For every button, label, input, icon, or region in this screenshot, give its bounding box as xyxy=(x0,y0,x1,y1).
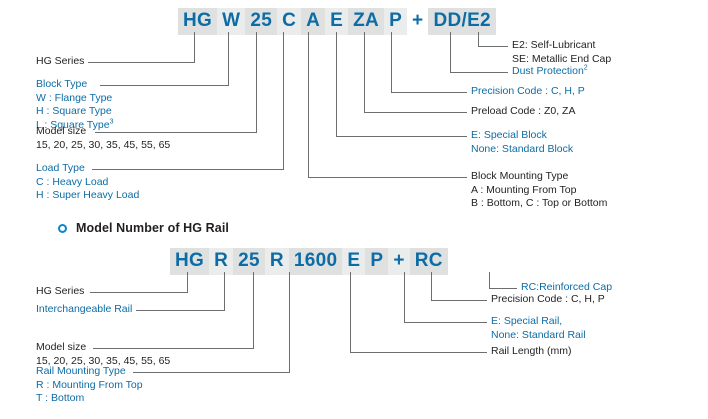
block-code-cell-7: P xyxy=(384,8,407,35)
leader-stub-precision xyxy=(391,32,392,92)
rail-code-cell-4: 1600 xyxy=(289,248,342,275)
rail-stub-length xyxy=(350,272,351,352)
rail-code-cell-7: + xyxy=(388,248,409,275)
footnote-marker-2: 2 xyxy=(584,65,588,72)
elbow-special xyxy=(336,136,467,137)
annotation-block-mounting-type: Block Mounting Type A : Mounting From To… xyxy=(471,170,607,211)
annotation-rail-mounting-type: Rail Mounting Type R : Mounting From Top… xyxy=(36,365,143,406)
rail-code-cell-5: E xyxy=(342,248,365,275)
annotation-model-size-rail: Model size 15, 20, 25, 30, 35, 45, 55, 6… xyxy=(36,341,170,368)
annotation-end-cap-options: E2: Self-Lubricant SE: Metallic End Cap xyxy=(512,39,611,66)
rail-section-header: Model Number of HG Rail xyxy=(58,221,229,235)
annotation-interchangeable-rail: Interchangeable Rail xyxy=(36,303,132,317)
rail-stub-precision xyxy=(431,272,432,300)
rail-elbow-interchange xyxy=(136,310,225,311)
rail-code-cell-6: P xyxy=(365,248,388,275)
block-code-cell-1: W xyxy=(217,8,245,35)
annotation-load-type: Load Type C : Heavy Load H : Super Heavy… xyxy=(36,162,139,203)
block-code-cell-4: A xyxy=(301,8,325,35)
block-code-cell-0: HG xyxy=(178,8,217,35)
block-code-cell-5: E xyxy=(325,8,348,35)
rail-stub-hg xyxy=(187,272,188,292)
elbow-precision xyxy=(391,92,467,93)
leader-stub-model-size xyxy=(256,32,257,132)
leader-stub-hg xyxy=(194,32,195,62)
annotation-dust-protection: Dust Protection2 xyxy=(512,65,588,79)
rail-stub-model-size xyxy=(253,272,254,348)
elbow-dust xyxy=(450,72,508,73)
block-code-cell-9: DD/E2 xyxy=(428,8,495,35)
block-code-row: HGW25CAEZAP+DD/E2 xyxy=(178,8,496,35)
block-code-cell-6: ZA xyxy=(348,8,384,35)
rail-code-cell-3: R xyxy=(265,248,289,275)
annotation-preload-code: Preload Code : Z0, ZA xyxy=(471,105,575,119)
rail-stub-special xyxy=(404,272,405,322)
annotation-precision-code-block: Precision Code : C, H, P xyxy=(471,85,585,99)
rail-elbow-mounting xyxy=(133,372,290,373)
elbow-e2 xyxy=(478,46,508,47)
rail-elbow-hg-series xyxy=(90,292,188,293)
annotation-model-size-block: Model size 15, 20, 25, 30, 35, 45, 55, 6… xyxy=(36,125,170,152)
leader-stub-block-type xyxy=(228,32,229,85)
rail-stub-rc xyxy=(489,272,490,288)
annotation-block-type: Block Type W : Flange Type H : Square Ty… xyxy=(36,78,113,132)
annotation-rail-length: Rail Length (mm) xyxy=(491,345,572,359)
leader-stub-load-type xyxy=(283,32,284,169)
leader-stub-special xyxy=(336,32,337,136)
rail-stub-interchange xyxy=(224,272,225,310)
rail-elbow-rc xyxy=(489,288,517,289)
rail-elbow-precision xyxy=(431,300,487,301)
rail-code-cell-2: 25 xyxy=(233,248,265,275)
elbow-block-type xyxy=(100,85,229,86)
rail-stub-mounting xyxy=(289,272,290,372)
annotation-precision-code-rail: Precision Code : C, H, P xyxy=(491,293,605,307)
leader-stub-dust xyxy=(450,32,451,72)
leader-stub-e2 xyxy=(478,32,479,46)
footnote-marker-3: 3 xyxy=(110,118,114,125)
rail-code-cell-1: R xyxy=(209,248,233,275)
nomenclature-diagram: HGW25CAEZAP+DD/E2 HG Series Block Type W… xyxy=(0,0,708,419)
block-code-cell-3: C xyxy=(277,8,301,35)
elbow-hg-series xyxy=(88,62,195,63)
elbow-mounting xyxy=(308,177,467,178)
rail-code-cell-0: HG xyxy=(170,248,209,275)
annotation-hg-series-rail: HG Series xyxy=(36,285,84,299)
block-code-cell-2: 25 xyxy=(245,8,277,35)
rail-code-row: HGR25R1600EP+RC xyxy=(170,248,448,275)
block-code-cell-8: + xyxy=(407,8,428,35)
elbow-preload xyxy=(364,112,467,113)
leader-stub-preload xyxy=(364,32,365,112)
annotation-special-block: E: Special Block None: Standard Block xyxy=(471,129,573,156)
leader-stub-mounting xyxy=(308,32,309,177)
bullet-ring-icon xyxy=(58,224,67,233)
rail-elbow-special xyxy=(404,322,487,323)
rail-section-title: Model Number of HG Rail xyxy=(76,221,229,235)
annotation-hg-series-block: HG Series xyxy=(36,55,84,69)
annotation-special-rail: E: Special Rail, None: Standard Rail xyxy=(491,315,586,342)
rail-code-cell-8: RC xyxy=(410,248,448,275)
rail-elbow-length xyxy=(350,352,487,353)
